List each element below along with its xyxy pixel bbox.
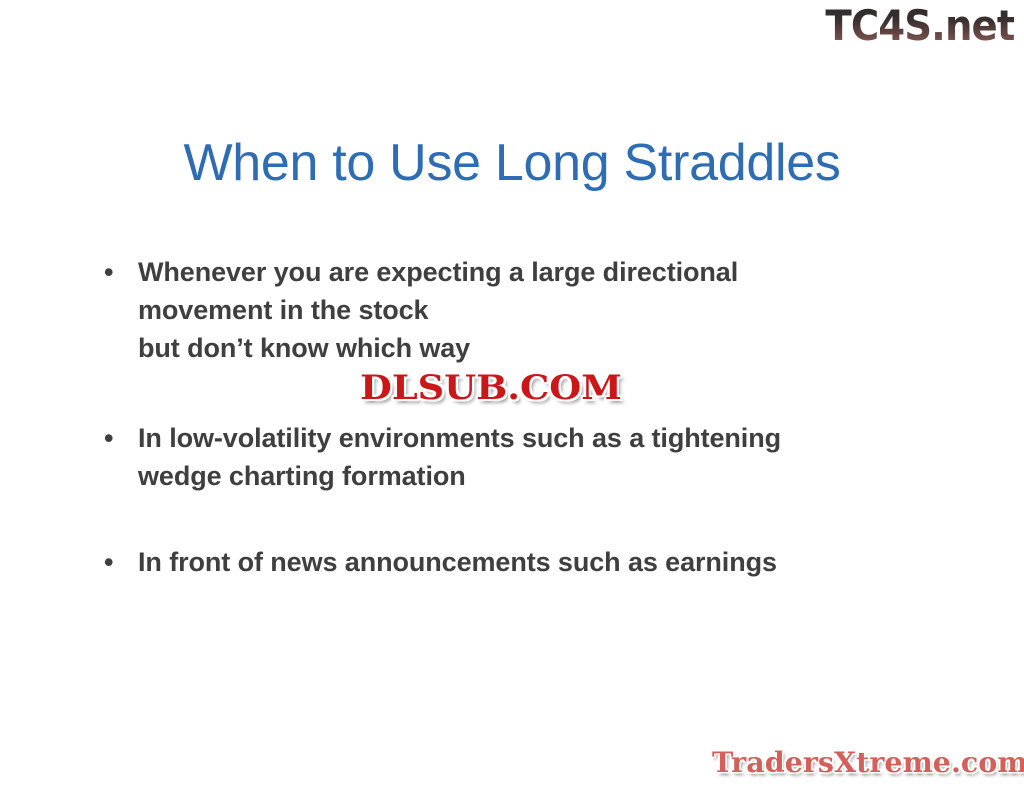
list-item: • Whenever you are expecting a large dir… — [98, 253, 938, 367]
bullet-dot-icon: • — [104, 419, 113, 457]
bullet-list: • Whenever you are expecting a large dir… — [98, 253, 938, 581]
bullet-line: movement in the stock — [138, 291, 938, 329]
slide-canvas: TC4S.net When to Use Long Straddles • Wh… — [0, 0, 1024, 791]
bullet-dot-icon: • — [104, 253, 113, 291]
bullet-line: Whenever you are expecting a large direc… — [138, 253, 938, 291]
bullet-line: but don’t know which way — [138, 329, 938, 367]
list-spacer — [98, 495, 938, 543]
page-title: When to Use Long Straddles — [0, 132, 1024, 194]
list-item: • In front of news announcements such as… — [98, 543, 938, 581]
bullet-line: In front of news announcements such as e… — [138, 543, 938, 581]
bullet-line: In low-volatility environments such as a… — [138, 419, 938, 457]
list-item: • In low-volatility environments such as… — [98, 419, 938, 495]
bullet-line: wedge charting formation — [138, 457, 938, 495]
tc4s-site-watermark: TC4S.net — [825, 2, 1014, 50]
bullet-dot-icon: • — [104, 543, 113, 581]
dlsub-watermark: DLSUB.COM — [360, 368, 622, 408]
tradersxtreme-watermark: TradersXtreme.com — [712, 746, 1024, 780]
